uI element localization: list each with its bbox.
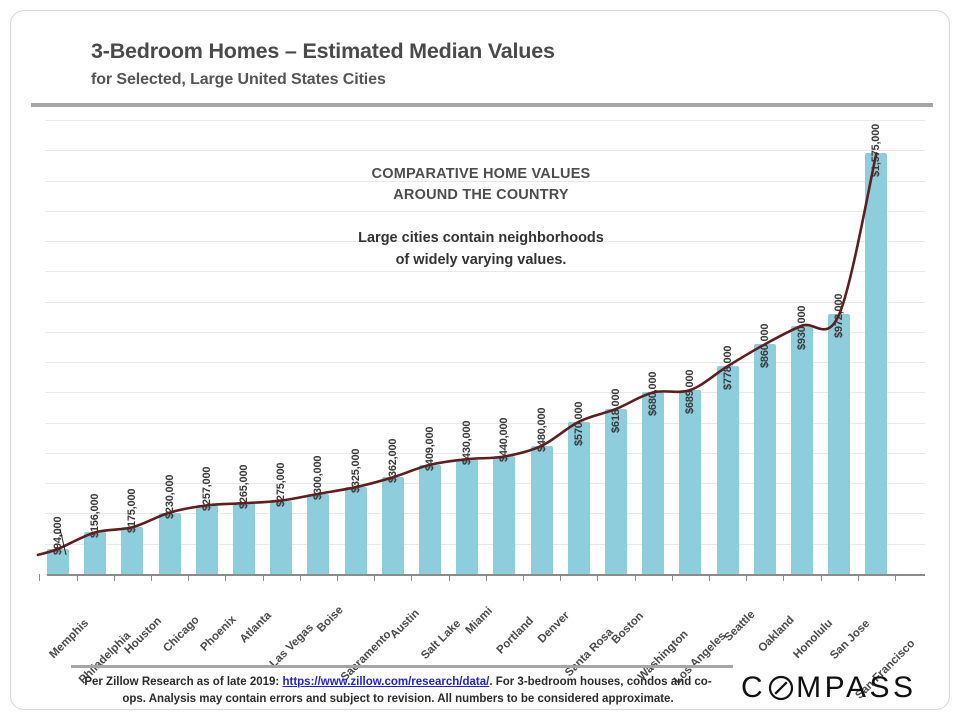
bar <box>642 392 664 574</box>
annotation-heading-line2: AROUND THE COUNTRY <box>321 185 641 206</box>
bar <box>865 153 887 574</box>
bar-value-label: $94,000 <box>52 517 64 555</box>
x-axis-label: Atlanta <box>238 610 274 646</box>
x-axis-label: Denver <box>535 610 571 646</box>
footnote: Per Zillow Research as of late 2019: htt… <box>73 674 723 708</box>
bar <box>828 314 850 574</box>
page-title: 3-Bedroom Homes – Estimated Median Value… <box>91 39 555 64</box>
compass-logo-text: C MPASS <box>741 671 916 705</box>
bar <box>493 456 515 574</box>
bar <box>382 477 404 574</box>
bar-value-label: $409,000 <box>424 426 436 470</box>
chart-card: 3-Bedroom Homes – Estimated Median Value… <box>10 10 950 710</box>
compass-slashed-o-icon <box>768 675 794 701</box>
zillow-research-link[interactable]: https://www.zillow.com/research/data/ <box>282 676 489 688</box>
x-axis-label: San Jose <box>828 618 872 662</box>
bar-value-label: $680,000 <box>647 372 659 416</box>
bar <box>307 494 329 574</box>
bar <box>159 513 181 574</box>
gridline <box>45 150 925 151</box>
x-axis-label: Memphis <box>47 617 91 661</box>
x-axis-label: Phoenix <box>198 614 238 654</box>
bar <box>531 446 553 574</box>
x-axis-label: Seattle <box>722 609 757 644</box>
bar-value-label: $972,000 <box>833 294 845 338</box>
bar-value-label: $930,000 <box>796 305 808 349</box>
x-axis-label: Austin <box>388 607 422 641</box>
bar-value-label: $257,000 <box>201 467 213 511</box>
x-axis-label: Portland <box>495 615 536 656</box>
bar-value-label: $778,000 <box>722 346 734 390</box>
gridline <box>45 271 925 272</box>
bar <box>419 465 441 574</box>
bar-value-label: $480,000 <box>536 408 548 452</box>
gridline <box>45 211 925 212</box>
bar-value-label: $300,000 <box>312 456 324 500</box>
bar-value-label: $689,000 <box>684 370 696 414</box>
x-axis-labels: MemphisPhiladelphiaHoustonChicagoPhoenix… <box>23 574 943 664</box>
bar-value-label: $570,000 <box>573 401 585 445</box>
bar-value-label: $362,000 <box>387 439 399 483</box>
bar-value-label: $175,000 <box>126 489 138 533</box>
footnote-text-before: Per Zillow Research as of late 2019: <box>84 676 282 688</box>
bar <box>270 501 292 574</box>
bar <box>754 344 776 574</box>
x-axis-label: Salt Lake <box>419 618 463 662</box>
bar-value-label: $618,000 <box>610 389 622 433</box>
x-axis-label: Boise <box>315 604 346 635</box>
page-subtitle: for Selected, Large United States Cities <box>91 71 386 89</box>
bar <box>717 366 739 574</box>
x-axis-label: Las Vegas <box>268 622 316 670</box>
bar <box>233 503 255 574</box>
gridline <box>45 302 925 303</box>
annotation-body: Large cities contain neighborhoods of wi… <box>311 227 651 271</box>
bar-value-label: $860,000 <box>759 324 771 368</box>
x-axis-label: Miami <box>464 605 496 637</box>
x-axis-label: Oakland <box>756 614 797 655</box>
bar <box>345 487 367 574</box>
x-axis-label: Boston <box>610 610 646 646</box>
x-axis-label: Chicago <box>161 614 202 655</box>
annotation-heading-line1: COMPARATIVE HOME VALUES <box>321 164 641 185</box>
x-axis-label: Santa Rosa <box>563 626 616 679</box>
bar-value-label: $440,000 <box>498 418 510 462</box>
bar-value-label: $230,000 <box>164 474 176 518</box>
bar <box>456 459 478 574</box>
bar <box>679 390 701 574</box>
bar-value-label: $265,000 <box>238 465 250 509</box>
annotation-body-line2: of widely varying values. <box>311 249 651 271</box>
bar <box>791 326 813 574</box>
bar <box>84 532 106 574</box>
bar-value-label: $1,575,000 <box>870 124 882 177</box>
bar-value-label: $275,000 <box>275 462 287 506</box>
bar-value-label: $156,000 <box>89 494 101 538</box>
bar-value-label: $325,000 <box>350 449 362 493</box>
bar-value-label: $430,000 <box>461 421 473 465</box>
annotation-heading: COMPARATIVE HOME VALUES AROUND THE COUNT… <box>321 164 641 206</box>
bar <box>196 505 218 574</box>
compass-logo: C MPASS <box>741 671 916 705</box>
bar <box>121 527 143 574</box>
footer-divider <box>71 665 733 668</box>
gridline <box>45 120 925 121</box>
annotation-body-line1: Large cities contain neighborhoods <box>311 227 651 249</box>
bar <box>605 409 627 574</box>
